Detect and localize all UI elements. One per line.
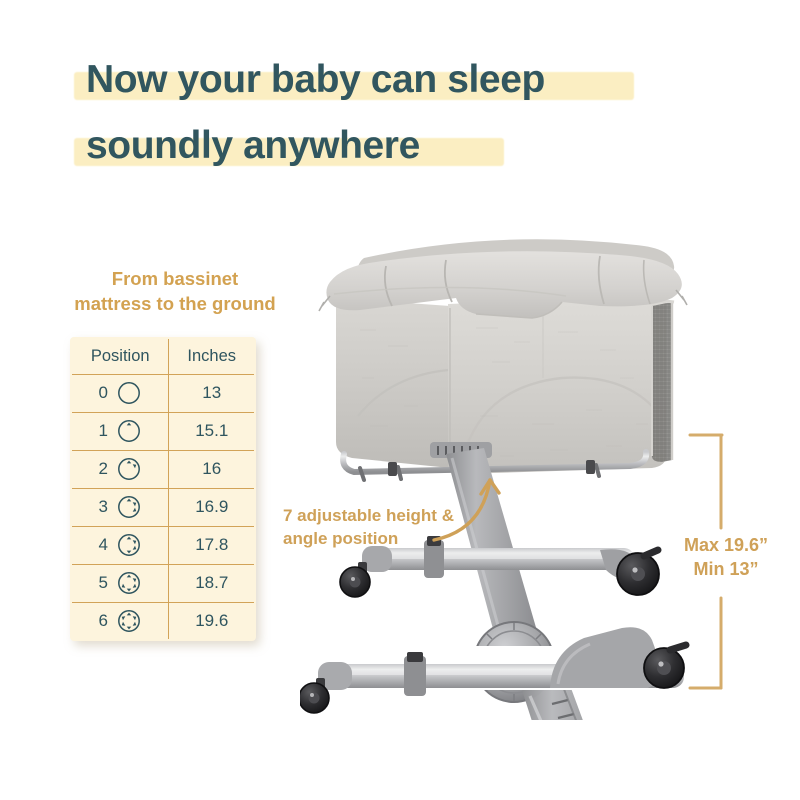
headline-line-2: soundly anywhere	[86, 118, 746, 174]
table-row: 4 17.8	[71, 526, 255, 564]
table-header-row: Position Inches	[71, 338, 255, 374]
table-row: 0 13	[71, 374, 255, 412]
position-number: 0	[99, 383, 108, 403]
position-dial-icon	[116, 608, 142, 634]
position-number: 3	[99, 497, 108, 517]
measure-max: Max 19.6”	[655, 533, 797, 557]
cell-position: 6	[71, 602, 169, 640]
table-row: 3 16.9	[71, 488, 255, 526]
column-header-inches: Inches	[169, 338, 255, 374]
headline-line-2-text: soundly anywhere	[86, 124, 420, 167]
position-dial-icon	[116, 494, 142, 520]
position-number: 5	[99, 573, 108, 593]
cell-inches: 19.6	[169, 602, 255, 640]
caster-lower-left	[300, 678, 329, 713]
cell-position: 1	[71, 412, 169, 450]
cell-position: 5	[71, 564, 169, 602]
table-caption: From bassinet mattress to the ground	[55, 266, 295, 316]
position-dial-icon	[116, 418, 142, 444]
cell-inches: 16	[169, 450, 255, 488]
table-row: 1 15.1	[71, 412, 255, 450]
position-dial-icon	[116, 532, 142, 558]
curved-arrow-icon	[418, 438, 538, 548]
position-dial-icon	[116, 456, 142, 482]
cell-position: 2	[71, 450, 169, 488]
table-row: 6 19.6	[71, 602, 255, 640]
height-spec-table: Position Inches 0 13 1 15.1 2 16 3 16.9	[70, 337, 256, 641]
position-number: 1	[99, 421, 108, 441]
table-row: 2 16	[71, 450, 255, 488]
column-header-position: Position	[71, 338, 169, 374]
position-dial-icon	[116, 380, 142, 406]
cell-inches: 18.7	[169, 564, 255, 602]
table-caption-line-2: mattress to the ground	[55, 291, 295, 316]
cell-inches: 13	[169, 374, 255, 412]
position-number: 2	[99, 459, 108, 479]
cell-position: 3	[71, 488, 169, 526]
cell-inches: 15.1	[169, 412, 255, 450]
cell-position: 4	[71, 526, 169, 564]
headline-line-1-text: Now your baby can sleep	[86, 58, 545, 101]
position-dial-icon	[116, 570, 142, 596]
table-caption-line-1: From bassinet	[55, 266, 295, 291]
headline-line-1: Now your baby can sleep	[86, 52, 746, 108]
position-number: 4	[99, 535, 108, 555]
table-row: 5 18.7	[71, 564, 255, 602]
cell-position: 0	[71, 374, 169, 412]
measure-min: Min 13”	[655, 557, 797, 581]
position-number: 6	[99, 611, 108, 631]
cell-inches: 17.8	[169, 526, 255, 564]
measure-label: Max 19.6” Min 13”	[655, 533, 797, 581]
caster-upper-left	[340, 562, 370, 597]
cell-inches: 16.9	[169, 488, 255, 526]
headline: Now your baby can sleep soundly anywhere	[86, 52, 746, 184]
